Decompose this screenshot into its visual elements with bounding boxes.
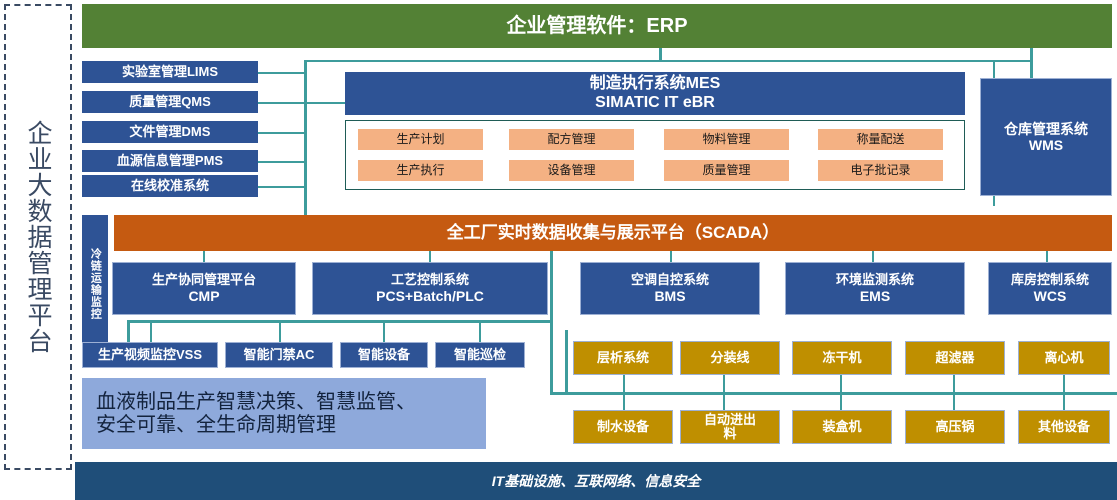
left-item-lims[interactable]: 实验室管理LIMS <box>82 61 258 83</box>
system-pcs-line1: 工艺控制系统 <box>391 273 469 288</box>
mes-modules-frame: 生产计划 配方管理 物料管理 称量配送 生产执行 设备管理 质量管理 电子批记录 <box>345 120 965 190</box>
equipment-autoclave-label: 高压锅 <box>935 420 974 435</box>
mes-module-recipe[interactable]: 配方管理 <box>509 129 634 150</box>
connector-vss <box>150 322 152 342</box>
smart-item-inspection-label: 智能巡检 <box>454 348 506 363</box>
cold-chain-monitor-label: 冷链运输监控 <box>89 248 102 320</box>
footer-bar: IT基础设施、互联网络、信息安全 <box>75 462 1117 500</box>
wms-line1: 仓库管理系统 <box>1004 121 1088 137</box>
equipment-filling-line[interactable]: 分装线 <box>680 341 780 375</box>
system-pcs[interactable]: 工艺控制系统 PCS+Batch/PLC <box>312 262 548 315</box>
system-wcs-line2: WCS <box>1034 288 1067 304</box>
mes-module-weighing-label: 称量配送 <box>856 133 904 147</box>
mes-title-line2: SIMATIC IT eBR <box>595 94 715 112</box>
mes-header[interactable]: 制造执行系统MES SIMATIC IT eBR <box>345 72 965 115</box>
wms-line2: WMS <box>1029 137 1063 153</box>
left-item-pms[interactable]: 血源信息管理PMS <box>82 150 258 172</box>
system-ems-line2: EMS <box>860 288 890 304</box>
left-item-dms-label: 文件管理DMS <box>130 125 211 140</box>
connector-smart-bus <box>127 320 552 323</box>
left-item-calibration-label: 在线校准系统 <box>131 179 209 194</box>
vision-line1: 血液制品生产智慧决策、智慧监管、 <box>96 391 416 414</box>
smart-item-vss[interactable]: 生产视频监控VSS <box>82 342 218 368</box>
equipment-centrifuge[interactable]: 离心机 <box>1018 341 1110 375</box>
vision-line2: 安全可靠、全生命周期管理 <box>96 414 336 437</box>
connector-equip-5 <box>1063 375 1065 410</box>
smart-item-inspection[interactable]: 智能巡检 <box>435 342 525 368</box>
mes-module-production-exec-label: 生产执行 <box>396 164 444 178</box>
connector-erp-to-wms <box>1030 47 1033 78</box>
connector-erp-to-mes <box>659 47 662 61</box>
system-cmp-line2: CMP <box>188 288 219 304</box>
mes-module-equipment[interactable]: 设备管理 <box>509 160 634 181</box>
mes-module-production-plan-label: 生产计划 <box>396 133 444 147</box>
scada-title: 全工厂实时数据收集与展示平台（SCADA） <box>447 223 779 243</box>
system-bms[interactable]: 空调自控系统 BMS <box>580 262 760 315</box>
system-pcs-line2: PCS+Batch/PLC <box>376 288 484 304</box>
equipment-water-system[interactable]: 制水设备 <box>573 410 673 444</box>
connector-smartdevice <box>383 322 385 342</box>
smart-item-device[interactable]: 智能设备 <box>340 342 428 368</box>
mes-module-weighing[interactable]: 称量配送 <box>818 129 943 150</box>
equipment-autoclave[interactable]: 高压锅 <box>905 410 1005 444</box>
equipment-other[interactable]: 其他设备 <box>1018 410 1110 444</box>
equipment-auto-feed[interactable]: 自动进出料 <box>680 410 780 444</box>
connector-smartbus-left-riser <box>127 320 130 342</box>
sidebar-platform-frame: 企业大数据管理平台 <box>4 4 72 470</box>
left-item-pms-label: 血源信息管理PMS <box>117 154 223 169</box>
left-item-qms[interactable]: 质量管理QMS <box>82 91 258 113</box>
connector-dms <box>258 132 306 134</box>
cold-chain-monitor[interactable]: 冷链运输监控 <box>82 215 108 352</box>
left-item-calibration[interactable]: 在线校准系统 <box>82 175 258 197</box>
scada-bar[interactable]: 全工厂实时数据收集与展示平台（SCADA） <box>114 215 1112 251</box>
system-bms-line2: BMS <box>654 288 685 304</box>
mes-module-ebr[interactable]: 电子批记录 <box>818 160 943 181</box>
mes-module-production-exec[interactable]: 生产执行 <box>358 160 483 181</box>
system-ems[interactable]: 环境监测系统 EMS <box>785 262 965 315</box>
equipment-ultrafilter-label: 超滤器 <box>935 351 974 366</box>
mes-module-equipment-label: 设备管理 <box>547 164 595 178</box>
mes-module-ebr-label: 电子批记录 <box>850 164 910 178</box>
connector-inspection <box>479 322 481 342</box>
equipment-centrifuge-label: 离心机 <box>1044 351 1083 366</box>
mes-module-material[interactable]: 物料管理 <box>664 129 789 150</box>
smart-item-ac-label: 智能门禁AC <box>244 348 315 363</box>
equipment-freeze-dryer-label: 冻干机 <box>822 351 861 366</box>
connector-left-trunk <box>304 60 307 215</box>
system-cmp-line1: 生产协同管理平台 <box>152 273 256 288</box>
wms-box[interactable]: 仓库管理系统 WMS <box>980 78 1112 196</box>
connector-equip-1 <box>623 375 625 410</box>
equipment-chromatography-label: 层析系统 <box>597 351 649 366</box>
equipment-cartoning[interactable]: 装盒机 <box>792 410 892 444</box>
mes-title-line1: 制造执行系统MES <box>590 75 721 93</box>
mes-module-production-plan[interactable]: 生产计划 <box>358 129 483 150</box>
system-cmp[interactable]: 生产协同管理平台 CMP <box>112 262 296 315</box>
equipment-water-system-label: 制水设备 <box>597 420 649 435</box>
equipment-ultrafilter[interactable]: 超滤器 <box>905 341 1005 375</box>
smart-item-vss-label: 生产视频监控VSS <box>98 348 202 363</box>
connector-pms <box>258 161 306 163</box>
system-bms-line1: 空调自控系统 <box>631 273 709 288</box>
mes-module-material-label: 物料管理 <box>702 133 750 147</box>
equipment-cartoning-label: 装盒机 <box>822 420 861 435</box>
connector-equip-4 <box>953 375 955 410</box>
system-wcs[interactable]: 库房控制系统 WCS <box>988 262 1112 315</box>
connector-equipment-bus <box>550 392 1117 395</box>
sidebar-platform-label: 企业大数据管理平台 <box>20 120 56 354</box>
mes-module-quality-label: 质量管理 <box>702 164 750 178</box>
equipment-auto-feed-label: 自动进出料 <box>699 413 761 440</box>
mes-module-quality[interactable]: 质量管理 <box>664 160 789 181</box>
connector-equip-left-riser <box>565 330 568 393</box>
left-item-qms-label: 质量管理QMS <box>129 95 211 110</box>
connector-calibration <box>258 186 306 188</box>
connector-qms-to-mes <box>258 102 348 104</box>
erp-banner[interactable]: 企业管理软件：ERP <box>82 4 1112 48</box>
connector-equip-2 <box>723 375 725 410</box>
mes-module-recipe-label: 配方管理 <box>547 133 595 147</box>
connector-lims <box>258 72 306 74</box>
footer-text: IT基础设施、互联网络、信息安全 <box>492 473 700 489</box>
smart-item-ac[interactable]: 智能门禁AC <box>225 342 333 368</box>
equipment-other-label: 其他设备 <box>1038 420 1090 435</box>
equipment-chromatography[interactable]: 层析系统 <box>573 341 673 375</box>
equipment-filling-line-label: 分装线 <box>710 351 749 366</box>
diagram-canvas: 企业大数据管理平台 企业管理软件：ERP 实验室管理LIMS 质量管理QMS 文… <box>0 0 1117 500</box>
left-item-dms[interactable]: 文件管理DMS <box>82 121 258 143</box>
left-item-lims-label: 实验室管理LIMS <box>122 65 218 80</box>
vision-statement: 血液制品生产智慧决策、智慧监管、 安全可靠、全生命周期管理 <box>82 378 486 449</box>
system-wcs-line1: 库房控制系统 <box>1011 273 1089 288</box>
connector-ac <box>279 322 281 342</box>
smart-item-device-label: 智能设备 <box>358 348 410 363</box>
erp-title: 企业管理软件：ERP <box>506 15 687 38</box>
connector-equip-3 <box>840 375 842 410</box>
equipment-freeze-dryer[interactable]: 冻干机 <box>792 341 892 375</box>
system-ems-line1: 环境监测系统 <box>836 273 914 288</box>
